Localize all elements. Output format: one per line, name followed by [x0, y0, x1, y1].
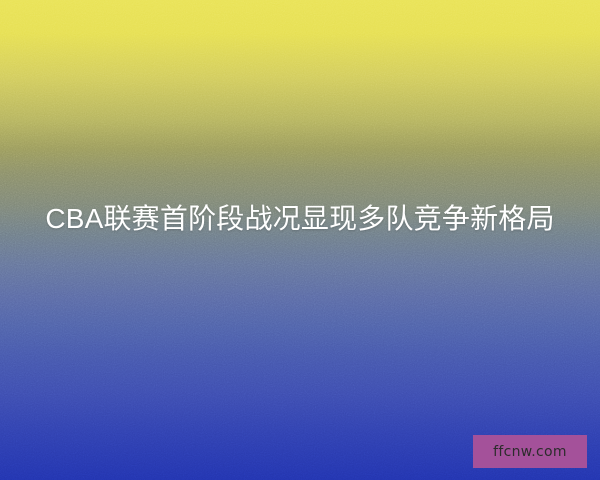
background-gradient — [0, 0, 600, 480]
page-title: CBA联赛首阶段战况显现多队竞争新格局 — [0, 198, 600, 240]
watermark-label: ffcnw.com — [493, 444, 567, 460]
page-title-text: CBA联赛首阶段战况显现多队竞争新格局 — [42, 198, 558, 240]
cover-image-canvas: CBA联赛首阶段战况显现多队竞争新格局 ffcnw.com — [0, 0, 600, 480]
watermark-badge: ffcnw.com — [473, 435, 587, 468]
